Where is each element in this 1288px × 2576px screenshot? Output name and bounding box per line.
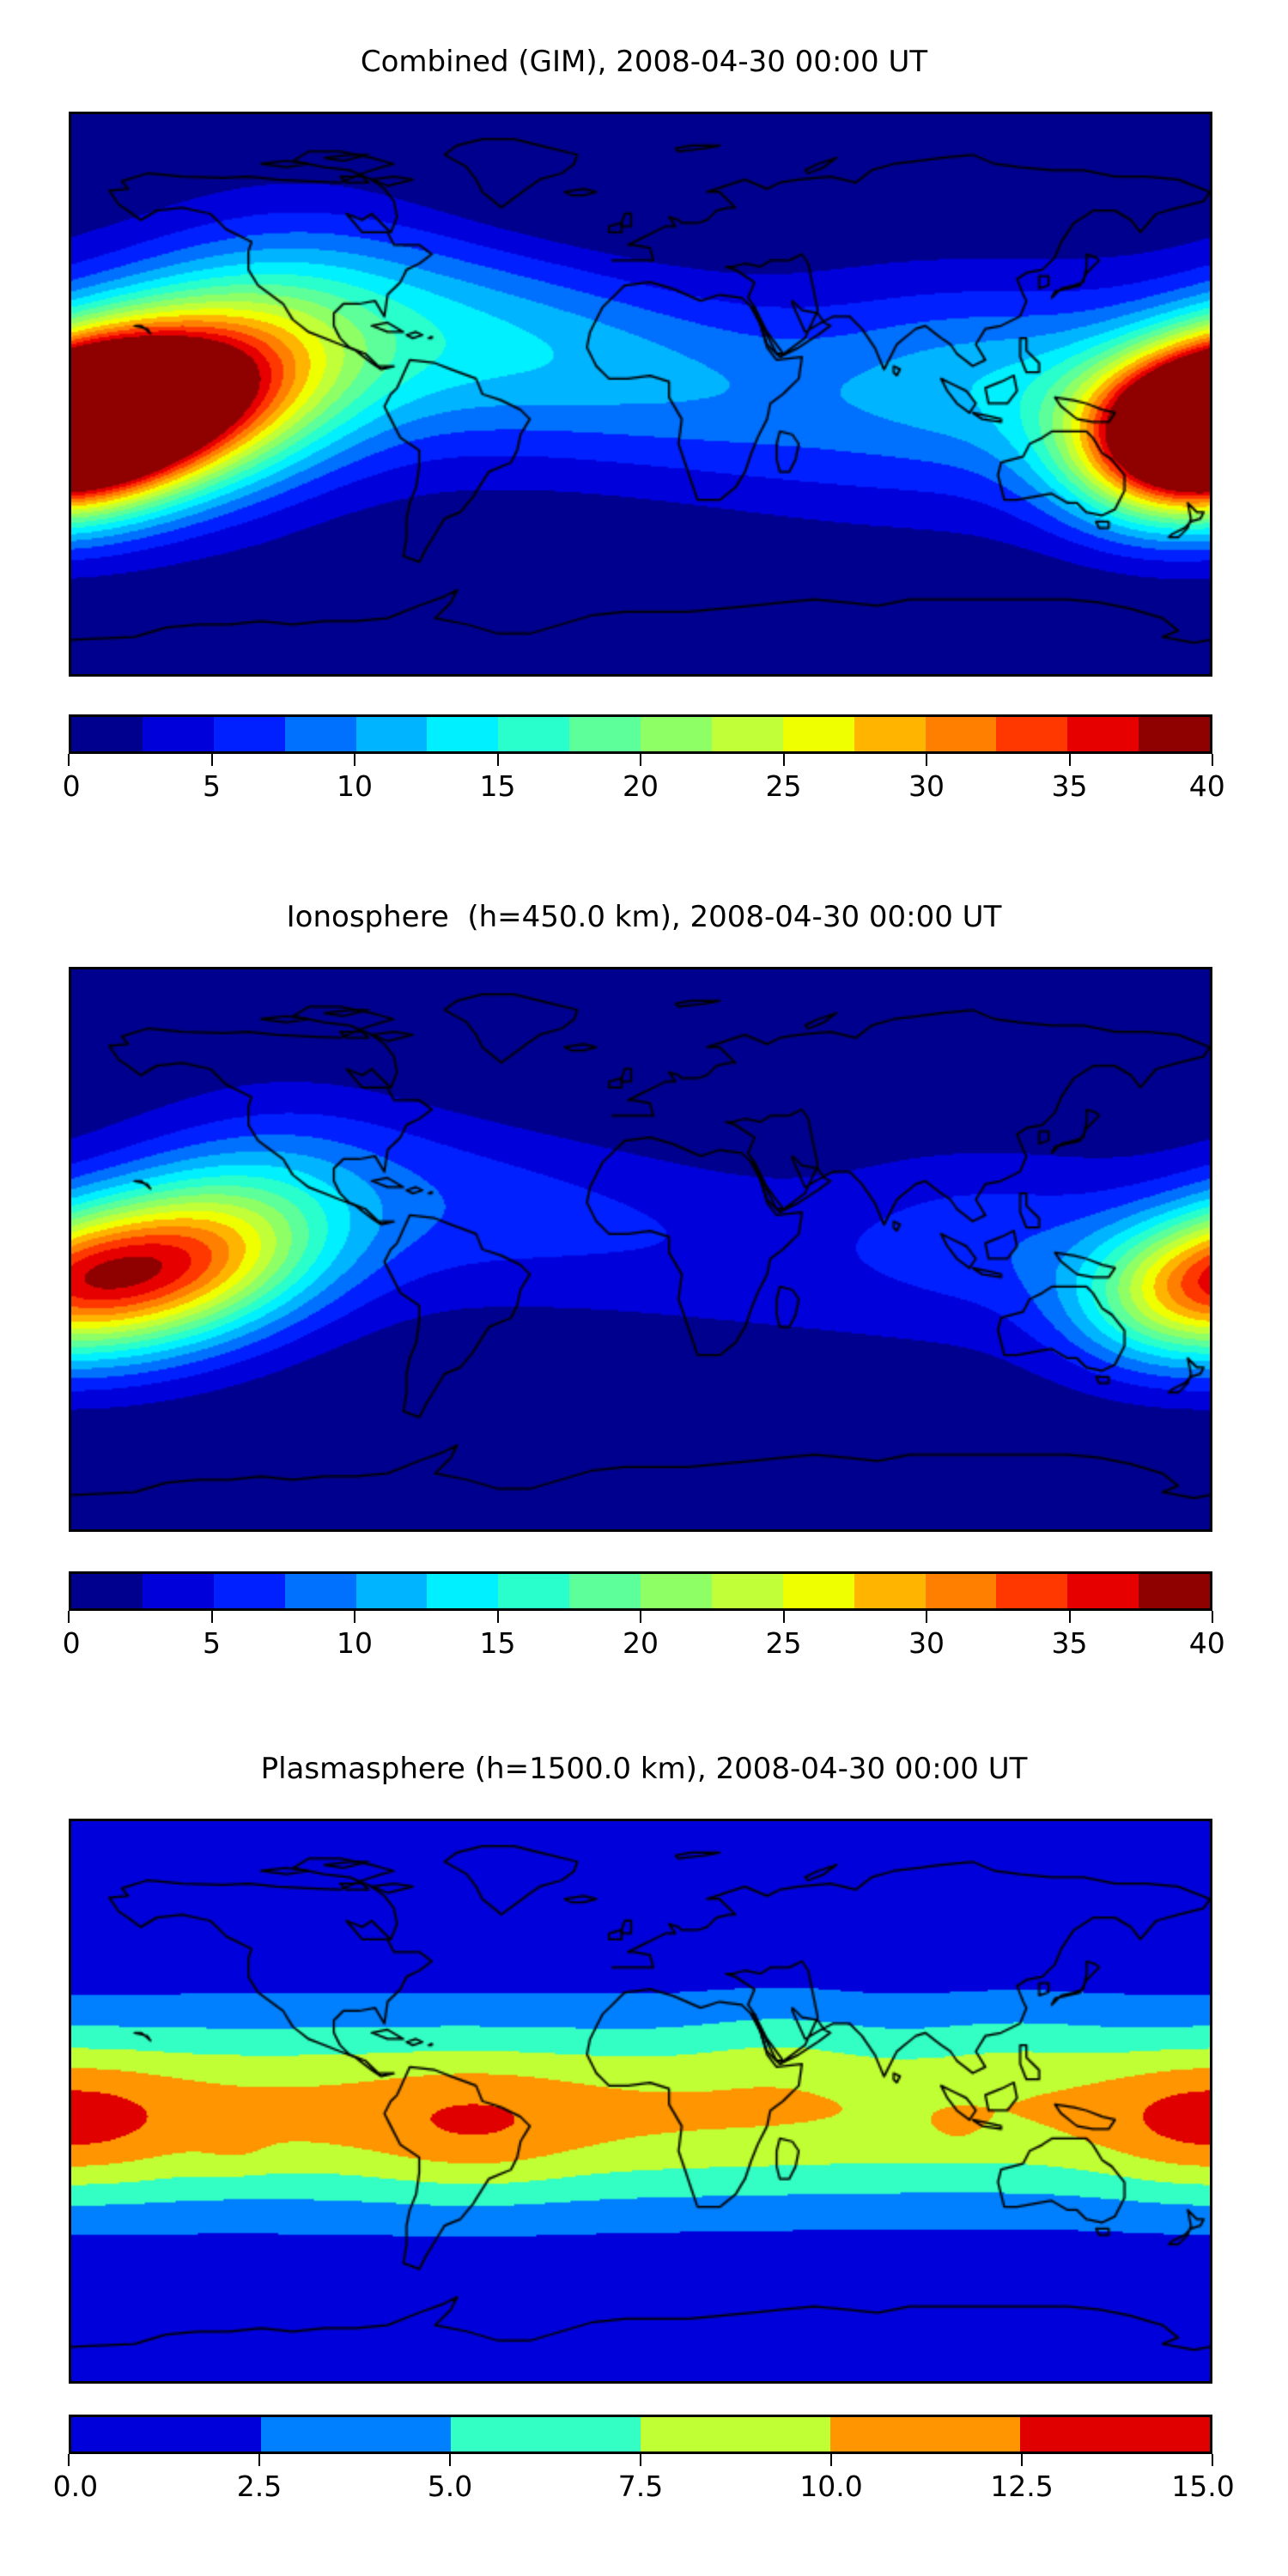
colorbar-tick — [783, 1611, 785, 1623]
colorbar-tick — [497, 754, 499, 766]
colorbar-segment — [569, 717, 641, 751]
map-canvas — [71, 1821, 1210, 2381]
colorbar-segment — [71, 717, 143, 751]
colorbar-combined-gim: 0510152025303540 — [69, 714, 1212, 805]
colorbar-segment — [285, 717, 356, 751]
colorbar-segment — [996, 1574, 1067, 1608]
colorbar-tick — [68, 1611, 70, 1623]
colorbar-segment — [1139, 1574, 1210, 1608]
colorbar-segment — [854, 717, 926, 751]
colorbar-tick-label: 35 — [1052, 769, 1088, 803]
colorbar-segment — [214, 1574, 285, 1608]
colorbar-gradient — [69, 714, 1212, 754]
colorbar-segment — [926, 717, 997, 751]
colorbar-segment — [143, 717, 214, 751]
colorbar-tick — [640, 754, 641, 766]
map-ionosphere — [69, 967, 1212, 1532]
colorbar-tick — [926, 1611, 927, 1623]
colorbar-tick-labels: 0510152025303540 — [69, 1625, 1212, 1662]
colorbar-segment — [641, 2417, 830, 2451]
colorbar-tick-label: 40 — [1189, 769, 1225, 803]
colorbar-tick-label: 20 — [623, 1626, 659, 1660]
colorbar-segment — [356, 1574, 428, 1608]
colorbar-tick — [68, 754, 70, 766]
colorbar-tick — [1069, 754, 1071, 766]
colorbar-tick — [497, 1611, 499, 1623]
colorbar-tick-label: 20 — [623, 769, 659, 803]
colorbar-tick — [1069, 1611, 1071, 1623]
colorbar-tick-labels: 0510152025303540 — [69, 768, 1212, 805]
colorbar-tick — [68, 2454, 70, 2466]
colorbar-segment — [143, 1574, 214, 1608]
map-plasmasphere — [69, 1819, 1212, 2384]
page-title: Plasmasphere (h=1500.0 km), 2008-04-30 0… — [0, 1752, 1288, 1786]
colorbar-tick — [1212, 754, 1213, 766]
panel-ionosphere: Ionosphere (h=450.0 km), 2008-04-30 00:0… — [0, 859, 1288, 1717]
colorbar-segment — [71, 2417, 261, 2451]
colorbar-segment — [569, 1574, 641, 1608]
colorbar-segment — [830, 2417, 1020, 2451]
colorbar-segment — [427, 717, 498, 751]
colorbar-tick-label: 10 — [337, 1626, 373, 1660]
colorbar-tick — [640, 1611, 641, 1623]
page-title: Combined (GIM), 2008-04-30 00:00 UT — [0, 45, 1288, 79]
colorbar-tick-label: 15.0 — [1171, 2470, 1234, 2503]
colorbar-tick-label: 35 — [1052, 1626, 1088, 1660]
colorbar-segment — [1067, 717, 1139, 751]
colorbar-tick — [258, 2454, 260, 2466]
colorbar-ticks — [69, 1611, 1212, 1625]
colorbar-tick — [354, 1611, 355, 1623]
colorbar-tick — [211, 1611, 213, 1623]
colorbar-segment — [1020, 2417, 1210, 2451]
colorbar-tick-label: 15 — [480, 769, 516, 803]
colorbar-tick-label: 30 — [908, 769, 945, 803]
page-title: Ionosphere (h=450.0 km), 2008-04-30 00:0… — [0, 900, 1288, 934]
colorbar-tick — [354, 754, 355, 766]
colorbar-tick — [1212, 2454, 1213, 2466]
colorbar-tick-labels: 0.02.55.07.510.012.515.0 — [69, 2468, 1212, 2506]
colorbar-segment — [783, 1574, 854, 1608]
colorbar-tick — [830, 2454, 832, 2466]
colorbar-gradient — [69, 1571, 1212, 1611]
colorbar-segment — [996, 717, 1067, 751]
colorbar-tick-label: 2.5 — [237, 2470, 282, 2503]
colorbar-segment — [641, 717, 712, 751]
colorbar-segment — [854, 1574, 926, 1608]
colorbar-tick-label: 10 — [337, 769, 373, 803]
colorbar-tick — [926, 754, 927, 766]
colorbar-tick-label: 15 — [480, 1626, 516, 1660]
colorbar-segment — [783, 717, 854, 751]
colorbar-ticks — [69, 2454, 1212, 2468]
colorbar-tick-label: 0 — [63, 1626, 81, 1660]
colorbar-tick-label: 12.5 — [990, 2470, 1053, 2503]
colorbar-ionosphere: 0510152025303540 — [69, 1571, 1212, 1662]
colorbar-segment — [427, 1574, 498, 1608]
panel-combined-gim: Combined (GIM), 2008-04-30 00:00 UT 0510… — [0, 0, 1288, 859]
colorbar-segment — [356, 717, 428, 751]
colorbar-tick-label: 40 — [1189, 1626, 1225, 1660]
colorbar-tick-label: 25 — [766, 1626, 802, 1660]
colorbar-gradient — [69, 2415, 1212, 2454]
colorbar-tick — [640, 2454, 641, 2466]
colorbar-plasmasphere: 0.02.55.07.510.012.515.0 — [69, 2415, 1212, 2506]
colorbar-tick-label: 7.5 — [618, 2470, 663, 2503]
colorbar-tick-label: 0.0 — [53, 2470, 98, 2503]
colorbar-segment — [285, 1574, 356, 1608]
colorbar-tick — [783, 754, 785, 766]
colorbar-tick-label: 25 — [766, 769, 802, 803]
colorbar-segment — [498, 717, 569, 751]
colorbar-tick-label: 0 — [63, 769, 81, 803]
colorbar-segment — [1067, 1574, 1139, 1608]
colorbar-tick-label: 5 — [203, 769, 221, 803]
panel-plasmasphere: Plasmasphere (h=1500.0 km), 2008-04-30 0… — [0, 1717, 1288, 2576]
colorbar-tick-label: 5 — [203, 1626, 221, 1660]
map-canvas — [71, 969, 1210, 1529]
colorbar-segment — [712, 1574, 783, 1608]
colorbar-segment — [1139, 717, 1210, 751]
colorbar-segment — [261, 2417, 451, 2451]
colorbar-tick — [1212, 1611, 1213, 1623]
colorbar-segment — [712, 717, 783, 751]
map-combined-gim — [69, 112, 1212, 677]
colorbar-segment — [641, 1574, 712, 1608]
colorbar-tick — [449, 2454, 451, 2466]
colorbar-tick-label: 5.0 — [428, 2470, 472, 2503]
colorbar-segment — [926, 1574, 997, 1608]
colorbar-ticks — [69, 754, 1212, 768]
colorbar-segment — [451, 2417, 641, 2451]
colorbar-segment — [498, 1574, 569, 1608]
colorbar-tick — [211, 754, 213, 766]
colorbar-segment — [71, 1574, 143, 1608]
map-canvas — [71, 114, 1210, 674]
colorbar-tick — [1021, 2454, 1023, 2466]
colorbar-segment — [214, 717, 285, 751]
colorbar-tick-label: 30 — [908, 1626, 945, 1660]
colorbar-tick-label: 10.0 — [799, 2470, 862, 2503]
